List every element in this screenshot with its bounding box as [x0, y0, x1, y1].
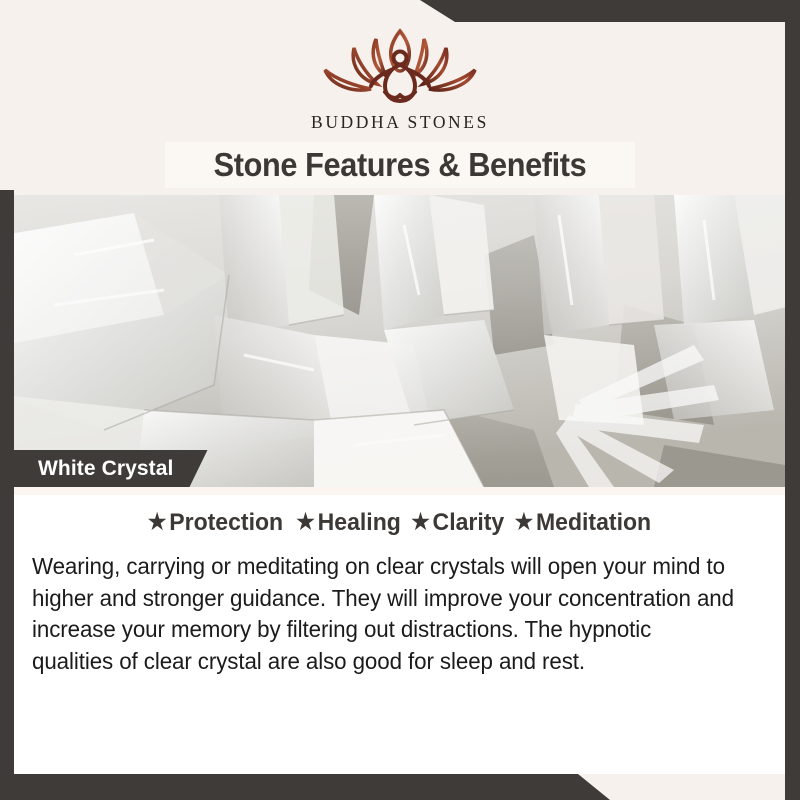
description-text: Wearing, carrying or meditating on clear…	[32, 551, 735, 677]
poster-root: BUDDHA STONES Stone Features & Benefits	[0, 0, 800, 800]
frame-accent-left	[0, 190, 14, 800]
poster-header: BUDDHA STONES Stone Features & Benefits	[0, 0, 800, 195]
frame-accent-bottom	[0, 774, 800, 800]
benefit-item: ★Meditation	[515, 509, 652, 537]
star-icon: ★	[148, 509, 167, 535]
card-top-divider	[14, 487, 785, 495]
benefit-label: Healing	[318, 509, 401, 536]
brand-logo: BUDDHA STONES	[0, 22, 800, 133]
page-title: Stone Features & Benefits	[28, 143, 772, 187]
lotus-meditation-icon	[315, 22, 485, 110]
benefit-label: Clarity	[433, 509, 505, 536]
benefit-item: ★Protection	[148, 509, 283, 537]
benefit-label: Protection	[169, 509, 283, 536]
star-icon: ★	[296, 509, 315, 535]
brand-name: BUDDHA STONES	[311, 112, 489, 133]
benefits-list: ★Protection★Healing★Clarity★Meditation	[37, 509, 762, 537]
content-card: ★Protection★Healing★Clarity★Meditation W…	[14, 487, 785, 774]
star-icon: ★	[515, 509, 534, 535]
star-icon: ★	[411, 509, 430, 535]
crystal-photo	[14, 195, 785, 487]
benefit-label: Meditation	[536, 509, 651, 536]
frame-accent-right	[785, 0, 800, 800]
benefit-item: ★Clarity	[411, 509, 504, 537]
benefit-item: ★Healing	[296, 509, 401, 537]
photo-caption: White Crystal	[14, 450, 208, 487]
photo-caption-text: White Crystal	[38, 450, 174, 487]
